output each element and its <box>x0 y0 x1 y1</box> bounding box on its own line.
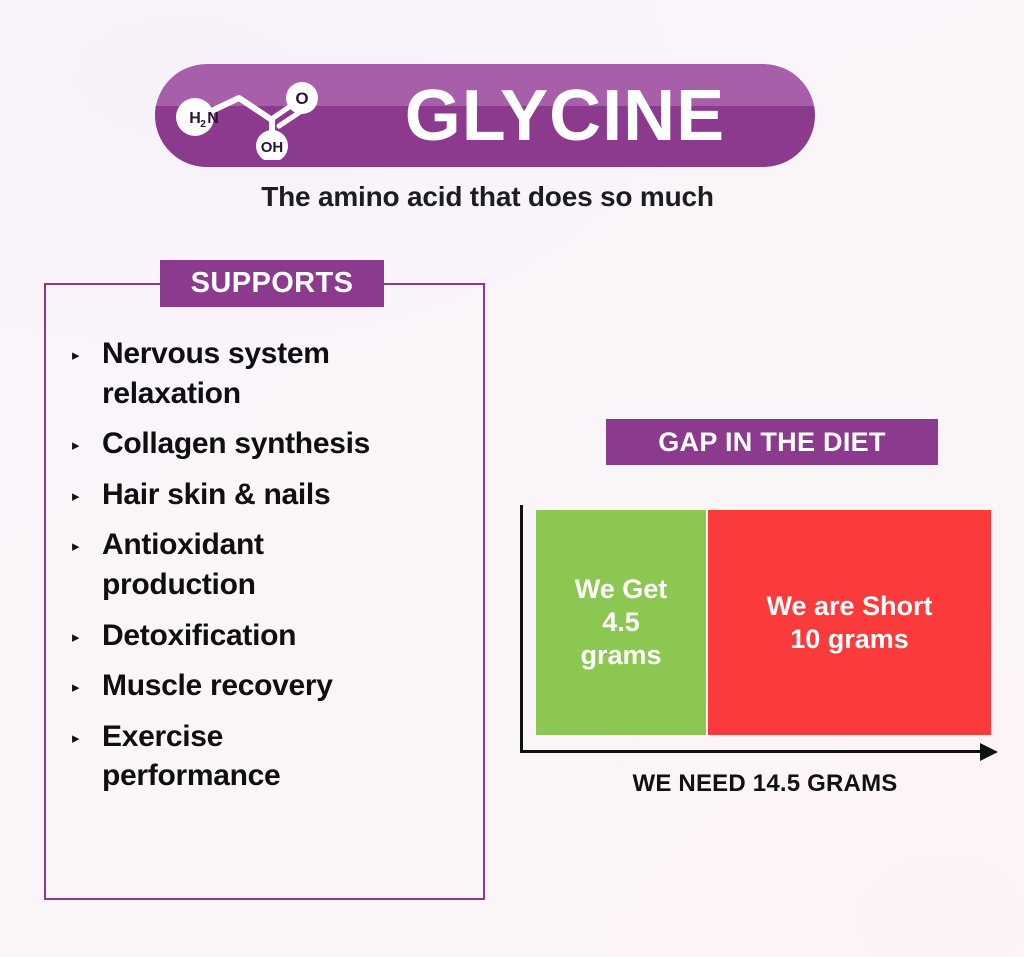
list-item: ▸ Nervous system relaxation <box>72 334 472 413</box>
list-item-label: Antioxidant production <box>102 525 402 604</box>
svg-text:N: N <box>207 110 219 127</box>
infographic-canvas: H 2 N O OH GLYCINE The amino acid that d… <box>0 0 1024 957</box>
list-item: ▸ Detoxification <box>72 616 472 656</box>
list-item: ▸ Exercise performance <box>72 717 472 796</box>
list-item: ▸ Antioxidant production <box>72 525 472 604</box>
page-subtitle: The amino acid that does so much <box>0 181 975 213</box>
chart-x-axis <box>520 750 982 753</box>
bar-we-get-label: We Get 4.5 grams <box>575 573 668 672</box>
triangle-bullet-icon: ▸ <box>72 348 88 363</box>
list-item-label: Collagen synthesis <box>102 424 370 464</box>
bar-we-are-short-label: We are Short 10 grams <box>766 590 932 656</box>
list-item-label: Hair skin & nails <box>102 475 330 515</box>
bar-we-are-short: We are Short 10 grams <box>708 510 991 735</box>
bar-we-get-line3: grams <box>580 640 661 670</box>
svg-text:O: O <box>295 89 308 108</box>
list-item-label: Nervous system relaxation <box>102 334 402 413</box>
supports-list: ▸ Nervous system relaxation ▸ Collagen s… <box>72 334 472 807</box>
chart-y-axis <box>520 505 523 753</box>
glycine-molecule-icon: H 2 N O OH <box>169 76 329 160</box>
triangle-bullet-icon: ▸ <box>72 489 88 504</box>
triangle-bullet-icon: ▸ <box>72 539 88 554</box>
list-item: ▸ Hair skin & nails <box>72 475 472 515</box>
bar-we-are-short-line2: 10 grams <box>790 624 909 654</box>
chart-caption: WE NEED 14.5 GRAMS <box>520 770 1010 798</box>
list-item-label: Detoxification <box>102 616 296 656</box>
supports-badge: SUPPORTS <box>160 260 384 307</box>
gap-badge: GAP IN THE DIET <box>606 419 938 465</box>
bar-we-get: We Get 4.5 grams <box>536 510 706 735</box>
page-title: GLYCINE <box>330 64 800 167</box>
list-item: ▸ Collagen synthesis <box>72 424 472 464</box>
triangle-bullet-icon: ▸ <box>72 731 88 746</box>
bar-we-are-short-line1: We are Short <box>766 591 932 621</box>
bar-we-get-line2: 4.5 <box>602 607 640 637</box>
svg-text:OH: OH <box>261 139 284 156</box>
list-item-label: Muscle recovery <box>102 666 333 706</box>
triangle-bullet-icon: ▸ <box>72 438 88 453</box>
svg-text:H: H <box>189 110 201 127</box>
svg-text:2: 2 <box>200 119 206 130</box>
bar-we-get-line1: We Get <box>575 574 668 604</box>
list-item-label: Exercise performance <box>102 717 402 796</box>
title-pill: H 2 N O OH GLYCINE <box>155 64 815 167</box>
list-item: ▸ Muscle recovery <box>72 666 472 706</box>
triangle-bullet-icon: ▸ <box>72 680 88 695</box>
chart-x-axis-arrow-icon <box>980 743 998 761</box>
gap-chart: We Get 4.5 grams We are Short 10 grams <box>520 500 1010 760</box>
triangle-bullet-icon: ▸ <box>72 630 88 645</box>
